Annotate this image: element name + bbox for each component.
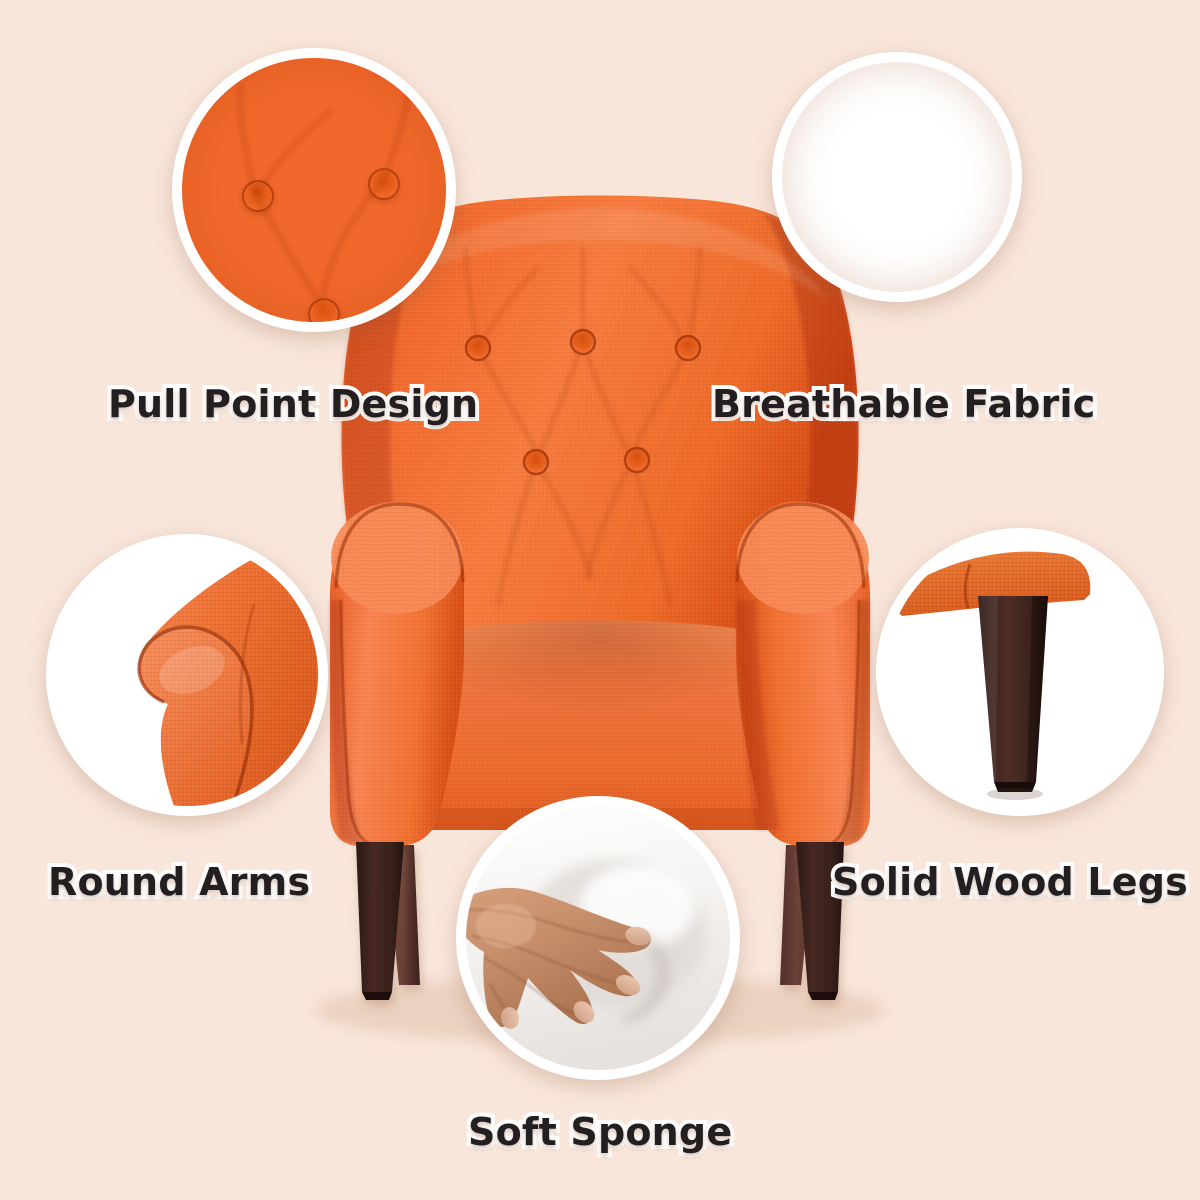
- arm-right-cap-weave: [737, 502, 869, 614]
- callout-bubble-solid-wood-legs: [876, 528, 1164, 816]
- feature-label-soft-sponge: Soft Sponge: [468, 1110, 732, 1154]
- front-leg-left-foot: [362, 992, 392, 1000]
- callout-bubble-breathable-fabric: [772, 52, 1022, 302]
- wood-leg-closeup-art: [886, 538, 1154, 806]
- callout-bubble-round-arms: [46, 534, 328, 816]
- infographic-canvas: Pull Point Design Breathable Fabric Roun…: [0, 0, 1200, 1200]
- leg-facet-left: [978, 596, 998, 782]
- front-leg-right-foot: [808, 992, 838, 1000]
- feature-label-round-arms: Round Arms: [48, 860, 310, 904]
- feature-label-pull-point-design: Pull Point Design: [108, 382, 478, 426]
- round-arm-closeup-art: [56, 544, 318, 806]
- tuft-crease-lines: [182, 58, 446, 322]
- chair-arm-left: [330, 502, 464, 846]
- hand-pressing-foam-art: [466, 806, 730, 1070]
- knuckle-highlight: [476, 904, 536, 948]
- callout-bubble-soft-sponge: [456, 796, 740, 1080]
- arm-left-cap-weave: [331, 502, 463, 614]
- feature-label-breathable-fabric: Breathable Fabric: [712, 382, 1095, 426]
- callout-bubble-pull-point-design: [172, 48, 456, 332]
- leg-contact-shadow: [987, 788, 1043, 800]
- chair-arm-right: [736, 502, 870, 846]
- feature-label-solid-wood-legs: Solid Wood Legs: [832, 860, 1188, 904]
- front-leg-left: [356, 842, 404, 992]
